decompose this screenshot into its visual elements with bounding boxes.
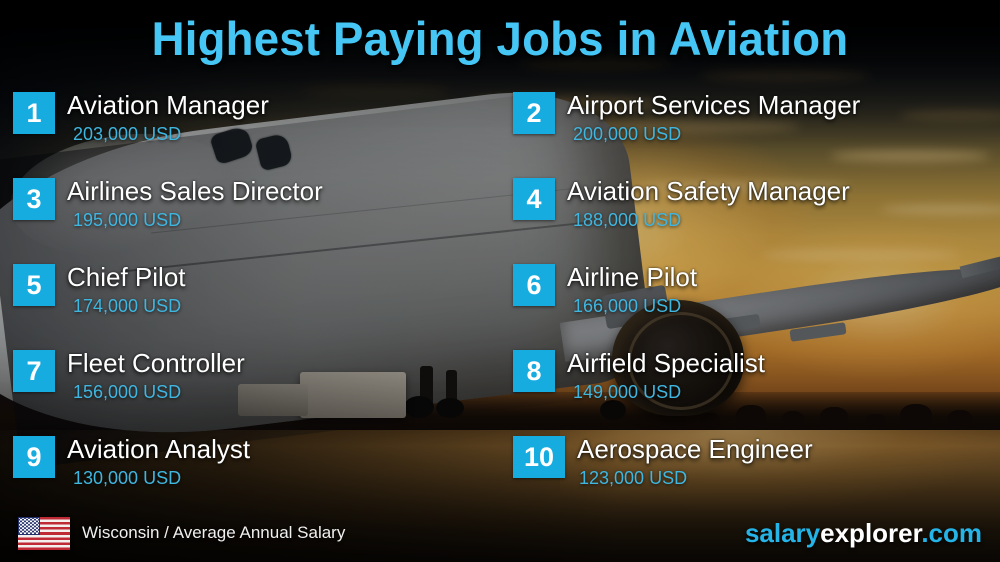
job-salary: 203,000 USD — [73, 122, 181, 146]
flag-stars — [19, 518, 39, 534]
list-item: 9 Aviation Analyst 130,000 USD — [13, 436, 500, 510]
job-title: Aviation Manager — [67, 88, 269, 122]
job-title: Aviation Safety Manager — [567, 174, 850, 208]
list-item: 10 Aerospace Engineer 123,000 USD — [513, 436, 1000, 510]
job-salary: 200,000 USD — [573, 122, 681, 146]
list-item: 3 Airlines Sales Director 195,000 USD — [13, 178, 500, 252]
rank-badge: 2 — [513, 92, 555, 134]
rank-badge: 1 — [13, 92, 55, 134]
job-salary: 156,000 USD — [73, 380, 181, 404]
rank-badge: 4 — [513, 178, 555, 220]
region-label: Wisconsin / Average Annual Salary — [82, 521, 345, 545]
footer: Wisconsin / Average Annual Salary salary… — [0, 502, 1000, 562]
list-item: 7 Fleet Controller 156,000 USD — [13, 350, 500, 424]
job-title: Airlines Sales Director — [67, 174, 323, 208]
job-title: Airline Pilot — [567, 260, 697, 294]
job-title: Airport Services Manager — [567, 88, 860, 122]
brand-part-explorer: explorer — [820, 518, 921, 548]
rank-badge: 6 — [513, 264, 555, 306]
list-item: 1 Aviation Manager 203,000 USD — [13, 92, 500, 166]
job-title: Fleet Controller — [67, 346, 245, 380]
job-salary: 123,000 USD — [579, 466, 687, 490]
brand-logo[interactable]: salaryexplorer.com — [745, 518, 982, 548]
list-item: 2 Airport Services Manager 200,000 USD — [513, 92, 1000, 166]
jobs-list: 1 Aviation Manager 203,000 USD 2 Airport… — [0, 88, 1000, 488]
content-layer: Highest Paying Jobs in Aviation 1 Aviati… — [0, 0, 1000, 562]
job-title: Aviation Analyst — [67, 432, 250, 466]
rank-badge: 8 — [513, 350, 555, 392]
rank-badge: 9 — [13, 436, 55, 478]
page-title: Highest Paying Jobs in Aviation — [15, 12, 985, 66]
list-item: 5 Chief Pilot 174,000 USD — [13, 264, 500, 338]
job-salary: 188,000 USD — [573, 208, 681, 232]
brand-part-tld: .com — [921, 518, 982, 548]
rank-badge: 3 — [13, 178, 55, 220]
list-item: 6 Airline Pilot 166,000 USD — [513, 264, 1000, 338]
brand-part-salary: salary — [745, 518, 820, 548]
job-salary: 195,000 USD — [73, 208, 181, 232]
rank-badge: 7 — [13, 350, 55, 392]
list-item: 4 Aviation Safety Manager 188,000 USD — [513, 178, 1000, 252]
job-title: Airfield Specialist — [567, 346, 765, 380]
job-title: Chief Pilot — [67, 260, 186, 294]
infographic-canvas: Highest Paying Jobs in Aviation 1 Aviati… — [0, 0, 1000, 562]
job-salary: 166,000 USD — [573, 294, 681, 318]
job-salary: 149,000 USD — [573, 380, 681, 404]
job-title: Aerospace Engineer — [577, 432, 813, 466]
job-salary: 174,000 USD — [73, 294, 181, 318]
us-flag-icon — [18, 517, 70, 550]
rank-badge: 10 — [513, 436, 565, 478]
list-item: 8 Airfield Specialist 149,000 USD — [513, 350, 1000, 424]
job-salary: 130,000 USD — [73, 466, 181, 490]
rank-badge: 5 — [13, 264, 55, 306]
